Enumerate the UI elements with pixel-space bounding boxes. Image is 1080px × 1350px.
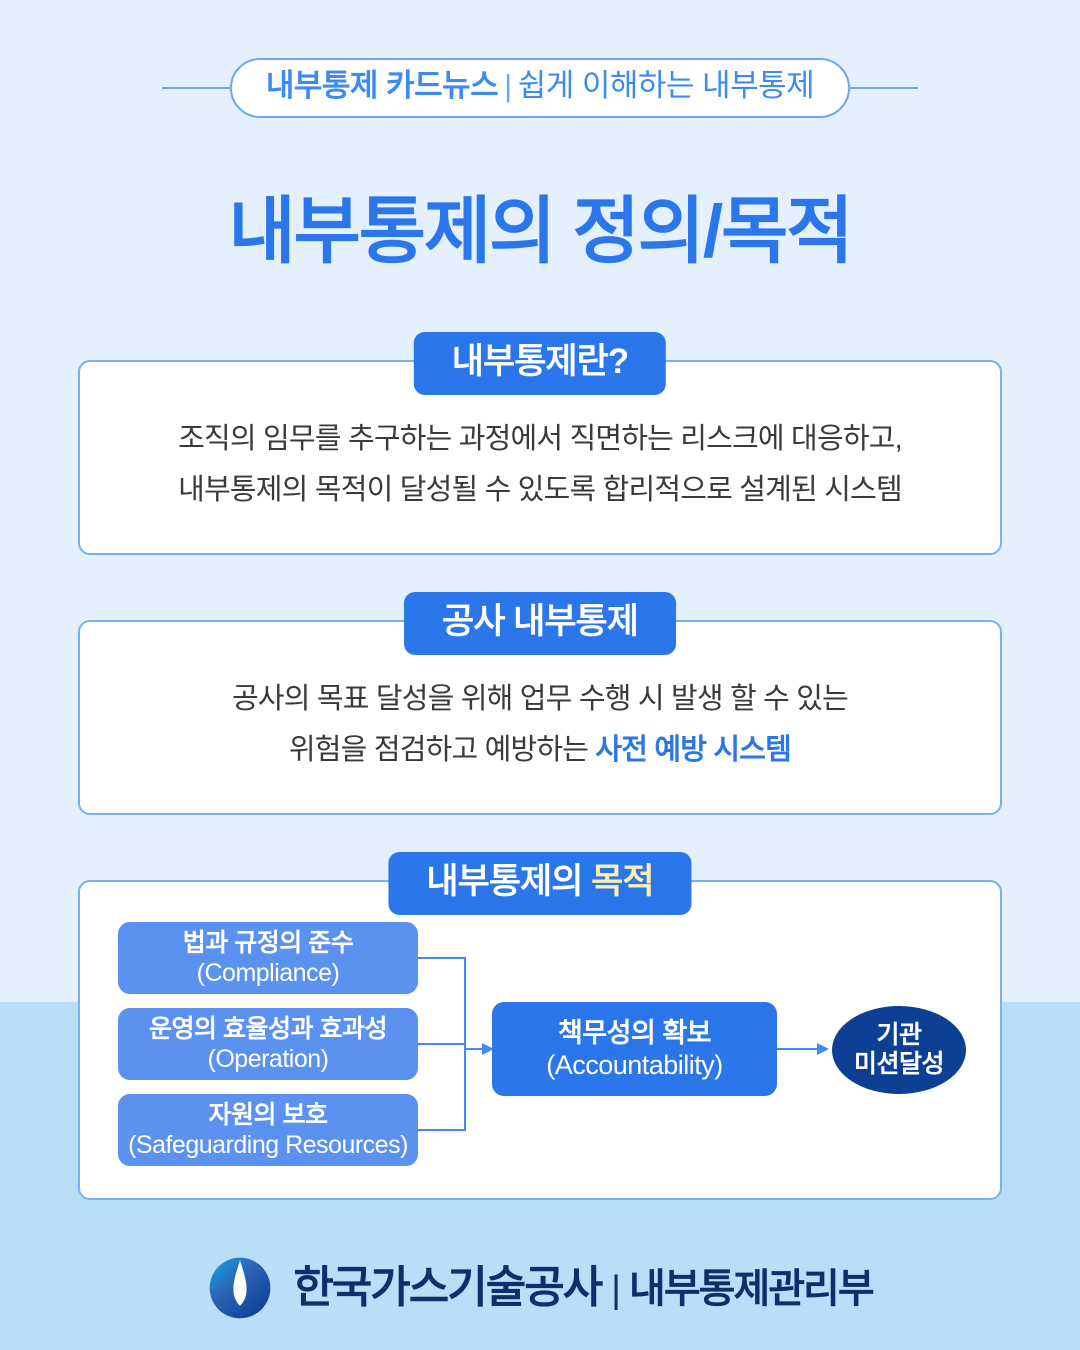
header-separator: | (498, 68, 518, 103)
body-line-1: 조직의 임무를 추구하는 과정에서 직면하는 리스크에 대응하고, (80, 414, 1000, 465)
purpose-flow-diagram: 법과 규정의 준수 (Compliance) 운영의 효율성과 효과성 (Ope… (110, 922, 974, 1182)
header-brand: 내부통제 카드뉴스 (266, 68, 498, 103)
header-pill: 내부통제 카드뉴스|쉽게 이해하는 내부통제 (230, 58, 850, 118)
section-body-definition: 조직의 임무를 추구하는 과정에서 직면하는 리스크에 대응하고, 내부통제의 … (80, 414, 1000, 516)
section-badge-corporate-control: 공사 내부통제 (404, 592, 676, 655)
page-title-highlighted: 정의/목적 (573, 195, 852, 268)
footer-company: 한국가스기술공사 (293, 1263, 601, 1312)
section-corporate-control: 공사 내부통제 공사의 목표 달성을 위해 업무 수행 시 발생 할 수 있는 … (78, 620, 1002, 815)
section-badge-definition: 내부통제란? (414, 332, 666, 395)
section-definition: 내부통제란? 조직의 임무를 추구하는 과정에서 직면하는 리스크에 대응하고,… (78, 360, 1002, 555)
footer-text: 한국가스기술공사|내부통제관리부 (293, 1266, 872, 1310)
flow-box-label-en: (Operation) (208, 1044, 329, 1074)
flow-box-label-ko: 책무성의 확보 (558, 1017, 711, 1049)
flow-box-compliance: 법과 규정의 준수 (Compliance) (118, 922, 418, 994)
body-line-2-plain: 위험을 점검하고 예방하는 (289, 734, 595, 766)
badge-plain-text: 내부통제의 (426, 862, 591, 901)
flow-box-label-ko: 운영의 효율성과 효과성 (149, 1014, 387, 1044)
flow-ellipse-mission-achievement: 기관 미션달성 (832, 1006, 966, 1094)
flow-box-label-en: (Compliance) (197, 958, 340, 988)
card-news-page: 내부통제 카드뉴스|쉽게 이해하는 내부통제 내부통제의 정의/목적 내부통제란… (0, 0, 1080, 1350)
flow-box-operation: 운영의 효율성과 효과성 (Operation) (118, 1008, 418, 1080)
badge-accent-text: 내부통제 (452, 342, 577, 381)
flow-box-label-ko: 자원의 보호 (209, 1100, 328, 1130)
flow-box-label-en: (Accountability) (546, 1049, 723, 1081)
footer: 한국가스기술공사|내부통제관리부 (0, 1243, 1080, 1333)
header-rule-right (850, 87, 918, 89)
body-line-1: 공사의 목표 달성을 위해 업무 수행 시 발생 할 수 있는 (80, 674, 1000, 725)
flow-box-label-en: (Safeguarding Resources) (128, 1130, 408, 1160)
page-title-plain: 내부통제의 (228, 191, 572, 272)
company-logo-icon (207, 1255, 273, 1321)
section-badge-purpose: 내부통제의 목적 (388, 852, 691, 915)
flow-ellipse-label-line2: 미션달성 (854, 1050, 944, 1080)
footer-department: 내부통제관리부 (629, 1267, 873, 1311)
body-line-2-emphasis: 사전 예방 시스템 (595, 734, 791, 766)
flow-ellipse-label-line1: 기관 (876, 1021, 921, 1051)
page-title-wrap: 내부통제의 정의/목적 (0, 176, 1080, 286)
body-line-2: 위험을 점검하고 예방하는 사전 예방 시스템 (80, 725, 1000, 776)
header-banner: 내부통제 카드뉴스|쉽게 이해하는 내부통제 (0, 53, 1080, 123)
flow-box-accountability: 책무성의 확보 (Accountability) (492, 1002, 777, 1096)
footer-separator: | (601, 1269, 629, 1311)
flow-box-label-ko: 법과 규정의 준수 (183, 928, 353, 958)
section-purpose: 내부통제의 목적 법과 규정의 준수 (Compliance) 운영의 효율성과… (78, 880, 1002, 1200)
badge-accent-text: 목적 (591, 862, 653, 901)
badge-plain-text: 란? (577, 342, 629, 381)
section-body-corporate-control: 공사의 목표 달성을 위해 업무 수행 시 발생 할 수 있는 위험을 점검하고… (80, 674, 1000, 776)
flow-box-safeguarding-resources: 자원의 보호 (Safeguarding Resources) (118, 1094, 418, 1166)
page-title: 내부통제의 정의/목적 (228, 195, 851, 268)
header-rule-left (162, 87, 230, 89)
header-subtitle: 쉽게 이해하는 내부통제 (518, 68, 814, 103)
body-line-2: 내부통제의 목적이 달성될 수 있도록 합리적으로 설계된 시스템 (80, 465, 1000, 516)
